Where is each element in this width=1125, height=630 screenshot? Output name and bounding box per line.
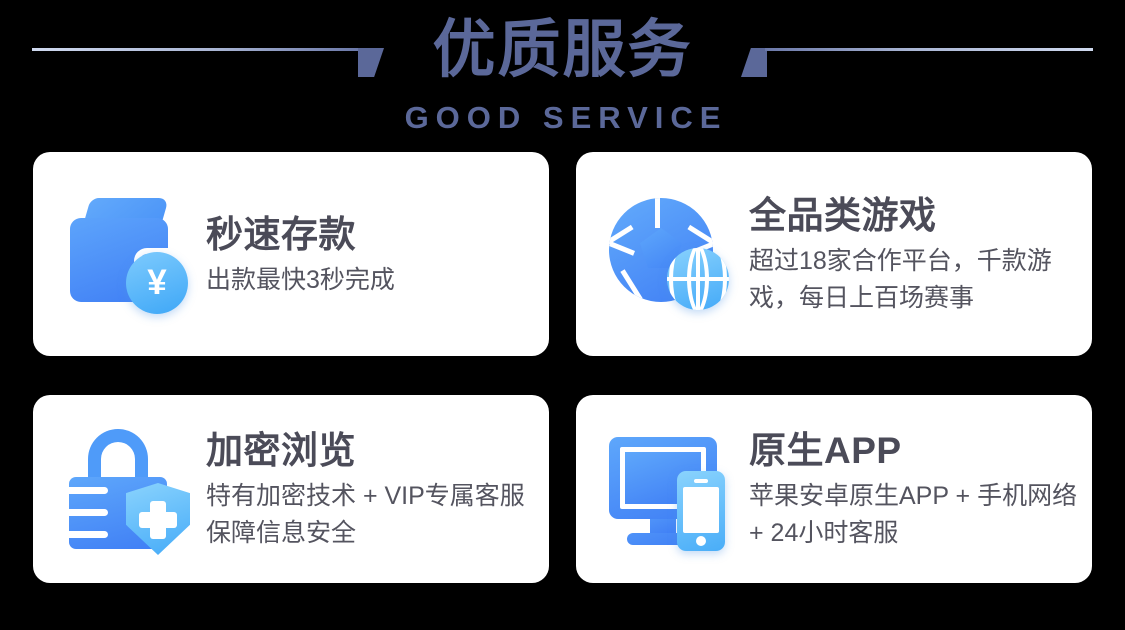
card-title: 全品类游戏 xyxy=(749,193,1079,239)
card-text-block: 秒速存款 出款最快3秒完成 xyxy=(206,210,395,299)
lock-slot xyxy=(64,531,108,538)
feature-card-encryption[interactable]: 加密浏览 特有加密技术 + VIP专属客服保障信息安全 xyxy=(33,395,549,583)
feature-card-deposit[interactable]: ¥ 秒速存款 出款最快3秒完成 xyxy=(33,152,549,356)
card-subtitle: 超过18家合作平台，千款游戏，每日上百场赛事 xyxy=(749,243,1079,317)
phone-home-button xyxy=(696,536,706,546)
page-subtitle: GOOD SERVICE xyxy=(0,100,1125,136)
soccer-seam xyxy=(609,241,635,255)
phone-speaker xyxy=(694,479,708,483)
feature-card-games[interactable]: 全品类游戏 超过18家合作平台，千款游戏，每日上百场赛事 xyxy=(576,152,1092,356)
card-subtitle: 苹果安卓原生APP + 手机网络 + 24小时客服 xyxy=(749,478,1079,552)
lock-slot xyxy=(64,487,108,494)
card-subtitle: 出款最快3秒完成 xyxy=(206,262,395,299)
basketball-icon xyxy=(667,248,729,310)
yen-symbol: ¥ xyxy=(126,252,188,314)
yen-coin-icon: ¥ xyxy=(126,252,188,314)
soccer-seam xyxy=(620,269,642,300)
card-text-block: 原生APP 苹果安卓原生APP + 手机网络 + 24小时客服 xyxy=(749,426,1079,552)
phone-screen xyxy=(683,487,719,533)
lock-slot xyxy=(64,509,108,516)
wallet-yen-icon: ¥ xyxy=(64,190,192,318)
monitor-phone-icon xyxy=(607,425,735,553)
lock-shield-icon xyxy=(64,425,192,553)
header-rule-right-icon xyxy=(765,48,1093,51)
feature-card-grid: ¥ 秒速存款 出款最快3秒完成 xyxy=(33,152,1092,583)
card-title: 原生APP xyxy=(749,428,1079,474)
card-title: 加密浏览 xyxy=(206,428,536,474)
card-subtitle: 特有加密技术 + VIP专属客服保障信息安全 xyxy=(206,478,536,552)
card-text-block: 全品类游戏 超过18家合作平台，千款游戏，每日上百场赛事 xyxy=(749,191,1079,317)
page-header: 优质服务 GOOD SERVICE xyxy=(0,0,1125,150)
shield-cross-icon xyxy=(139,512,177,528)
basketball-curve xyxy=(687,248,727,310)
soccer-seam xyxy=(655,198,660,228)
soccer-basketball-icon xyxy=(607,190,735,318)
card-text-block: 加密浏览 特有加密技术 + VIP专属客服保障信息安全 xyxy=(206,426,536,552)
card-title: 秒速存款 xyxy=(206,212,395,258)
feature-card-native-app[interactable]: 原生APP 苹果安卓原生APP + 手机网络 + 24小时客服 xyxy=(576,395,1092,583)
